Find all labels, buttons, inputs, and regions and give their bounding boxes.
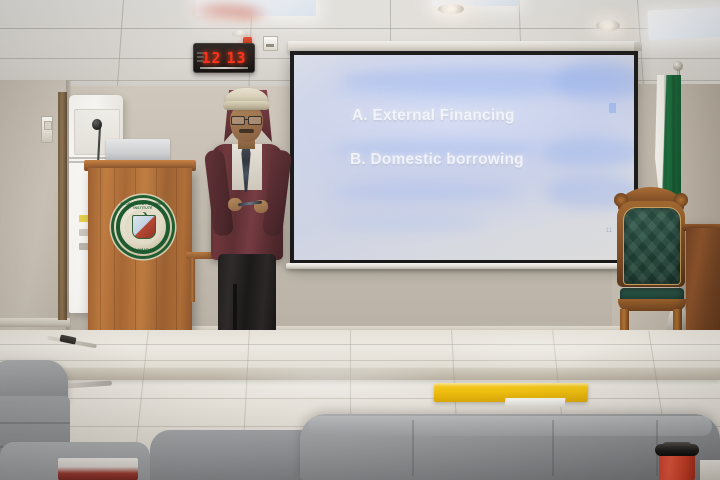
smoke-detector-icon bbox=[232, 30, 248, 37]
slide-surface: A. External Financing B. Domestic borrow… bbox=[294, 55, 634, 260]
institute-emblem: SECRETARIAT TRAINING INSTITUTE ISLAMABAD bbox=[114, 198, 172, 256]
ornate-armchair bbox=[612, 187, 690, 337]
laptop bbox=[106, 139, 170, 162]
foreground-paper-right bbox=[700, 460, 720, 480]
door-frame-edge bbox=[58, 92, 67, 320]
ceiling-panel-light bbox=[647, 6, 720, 41]
slide-line-1: A. External Financing bbox=[294, 107, 634, 125]
slide-marker-icon bbox=[609, 103, 616, 113]
flag-finial-icon bbox=[673, 61, 683, 71]
presenter bbox=[206, 88, 290, 358]
eyeglasses-icon bbox=[230, 116, 263, 123]
conference-hall-photo: 12 13 A. External Financing B. Domestic … bbox=[0, 0, 720, 480]
floor-paper bbox=[505, 398, 566, 407]
clock-minutes: 13 bbox=[227, 51, 247, 66]
trousers bbox=[218, 254, 276, 342]
emblem-bottom-text: ISLAMABAD bbox=[114, 248, 172, 252]
wall-switch-icon bbox=[41, 116, 53, 143]
wall-sensor-icon bbox=[263, 36, 278, 51]
clock-hours: 12 bbox=[201, 51, 221, 66]
digital-wall-clock: 12 13 bbox=[193, 43, 255, 73]
coffee-cup bbox=[655, 442, 699, 480]
foreground-book bbox=[58, 458, 138, 480]
screen-weight-bar bbox=[286, 263, 642, 269]
projector-screen: A. External Financing B. Domestic borrow… bbox=[290, 51, 638, 265]
microphone-icon bbox=[92, 119, 102, 130]
slide-line-2: B. Domestic borrowing bbox=[294, 151, 634, 169]
chair-backrest bbox=[623, 207, 681, 285]
emblem-top-text: SECRETARIAT TRAINING INSTITUTE bbox=[114, 202, 172, 210]
